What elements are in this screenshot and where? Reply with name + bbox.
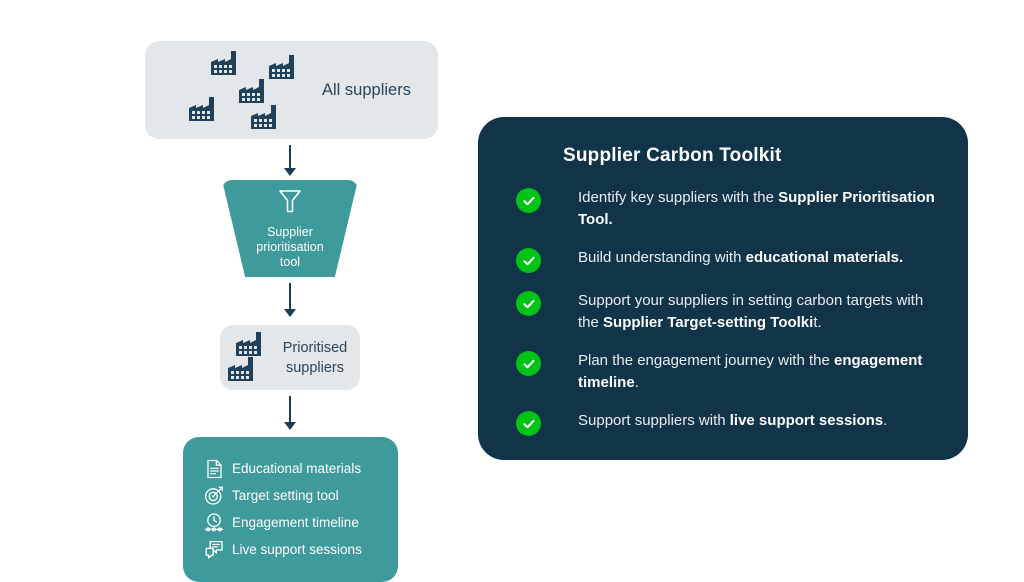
prioritised-label-line2: suppliers — [286, 358, 344, 378]
list-item-label: Live support sessions — [232, 542, 362, 557]
timeline-clock-icon — [201, 512, 227, 534]
list-item-label: Engagement timeline — [232, 515, 359, 530]
arrow-down-icon — [283, 283, 297, 319]
chat-bubbles-icon — [201, 539, 227, 561]
toolkit-bullet-text: Support your suppliers in setting carbon… — [578, 290, 940, 333]
arrow-down-icon — [283, 396, 297, 432]
factory-icon — [187, 97, 217, 128]
arrow-head — [284, 168, 296, 176]
factory-icon — [209, 51, 239, 82]
funnel-label: Supplier prioritisation tool — [235, 225, 345, 270]
list-item-label: Educational materials — [232, 461, 361, 476]
toolkit-bullet: Support suppliers with live support sess… — [516, 410, 940, 436]
all-suppliers-label: All suppliers — [295, 41, 438, 139]
toolkit-bullet: Support your suppliers in setting carbon… — [516, 290, 940, 333]
factory-icon — [249, 105, 279, 136]
page-title: Supplier Carbon Toolkit — [563, 145, 782, 167]
funnel-icon — [278, 189, 302, 220]
list-item[interactable]: Live support sessions — [183, 536, 398, 563]
check-circle-icon — [516, 411, 541, 436]
toolkit-items-card: Educational materials Target setting too… — [183, 437, 398, 582]
toolkit-bullet-text: Build understanding with educational mat… — [578, 247, 903, 269]
factory-cluster — [167, 51, 302, 129]
toolkit-bullet: Plan the engagement journey with the eng… — [516, 350, 940, 393]
supplier-prioritisation-funnel: Supplier prioritisation tool — [222, 180, 358, 277]
factory-icon — [267, 55, 297, 86]
arrow-shaft — [289, 396, 291, 423]
check-circle-icon — [516, 351, 541, 376]
toolkit-bullet-text: Plan the engagement journey with the eng… — [578, 350, 940, 393]
arrow-down-icon — [283, 145, 297, 177]
check-circle-icon — [516, 188, 541, 213]
all-suppliers-box: All suppliers — [145, 41, 438, 139]
prioritised-suppliers-label: Prioritised suppliers — [270, 325, 360, 390]
funnel-label-line2: prioritisation — [235, 240, 345, 255]
document-icon — [201, 458, 227, 480]
toolkit-bullet-list: Identify key suppliers with the Supplier… — [516, 187, 940, 453]
list-item-label: Target setting tool — [232, 488, 339, 503]
list-item[interactable]: Educational materials — [183, 455, 398, 482]
funnel-label-line1: Supplier — [235, 225, 345, 240]
prioritised-label-line1: Prioritised — [283, 338, 347, 358]
list-item[interactable]: Target setting tool — [183, 482, 398, 509]
arrow-shaft — [289, 145, 291, 169]
toolkit-bullet-text: Support suppliers with live support sess… — [578, 410, 887, 432]
arrow-head — [284, 309, 296, 317]
supplier-carbon-toolkit-panel: Supplier Carbon Toolkit Identify key sup… — [478, 117, 968, 460]
funnel-label-line3: tool — [235, 255, 345, 270]
diagram-canvas: All suppliers Supplier prioritisation to… — [0, 0, 1024, 576]
toolkit-bullet: Identify key suppliers with the Supplier… — [516, 187, 940, 230]
arrow-head — [284, 422, 296, 430]
arrow-shaft — [289, 283, 291, 310]
list-item[interactable]: Engagement timeline — [183, 509, 398, 536]
funnel-content: Supplier prioritisation tool — [222, 180, 358, 277]
prioritised-suppliers-box: Prioritised suppliers — [220, 325, 360, 390]
factory-icon — [226, 357, 256, 388]
toolkit-bullet: Build understanding with educational mat… — [516, 247, 940, 273]
target-icon — [201, 485, 227, 507]
check-circle-icon — [516, 291, 541, 316]
toolkit-bullet-text: Identify key suppliers with the Supplier… — [578, 187, 940, 230]
check-circle-icon — [516, 248, 541, 273]
